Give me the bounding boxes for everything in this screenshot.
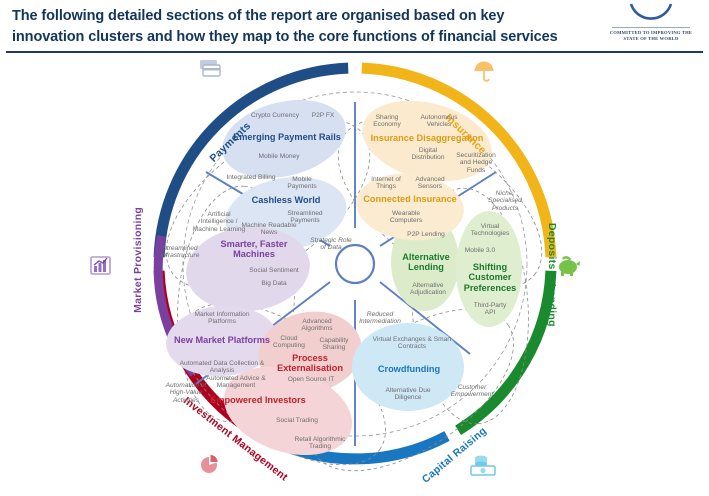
page-title: The following detailed sections of the r… <box>12 6 572 48</box>
innovation-cluster-wheel: Payments Insurance Deposits & Lending Ca… <box>0 54 709 483</box>
center-hub <box>336 245 374 283</box>
logo-tagline: COMMITTED TO IMPROVING THE STATE OF THE … <box>603 30 699 41</box>
wheel-graphics <box>0 54 709 483</box>
bubble-shifting-customer-pref <box>456 211 522 327</box>
page-header: The following detailed sections of the r… <box>0 0 709 54</box>
logo-divider <box>612 27 690 28</box>
wef-arc-icon <box>628 2 674 24</box>
header-divider <box>6 51 703 53</box>
wef-logo: COMMITTED TO IMPROVING THE STATE OF THE … <box>603 2 699 48</box>
bubble-crowdfunding <box>352 323 464 411</box>
